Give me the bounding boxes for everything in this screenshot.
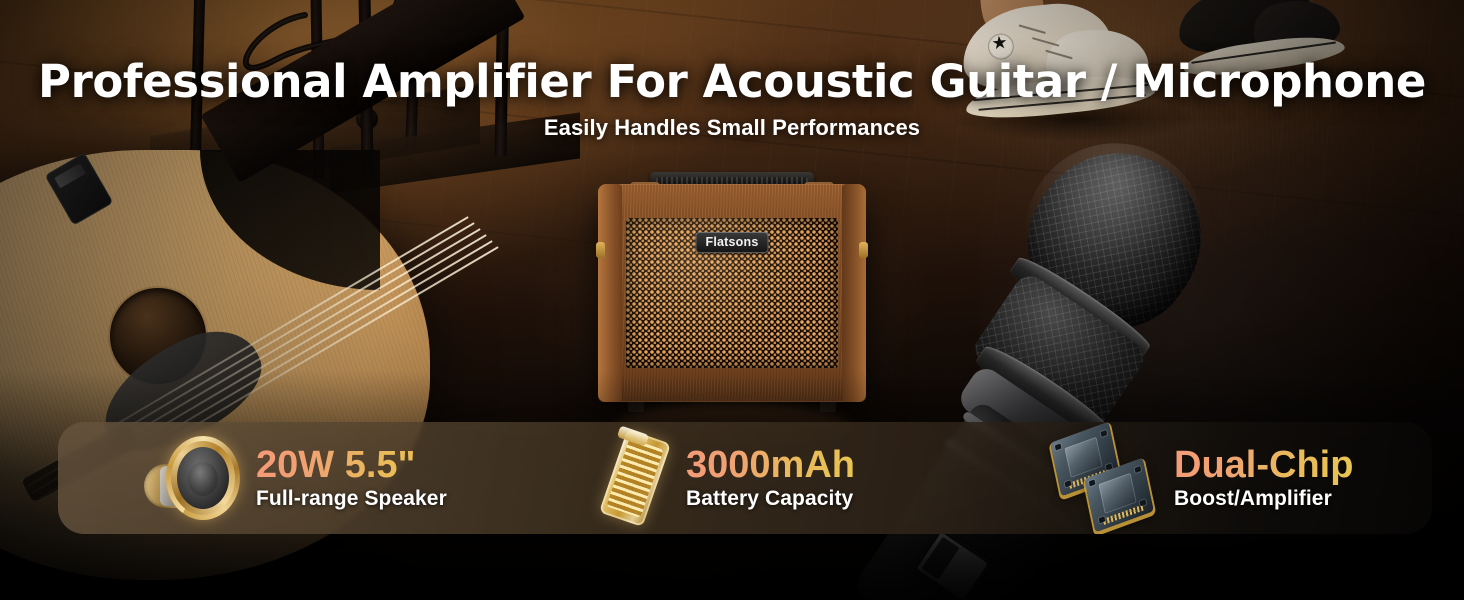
product-banner: Flatsons Professional Amplifier For Acou… xyxy=(0,0,1464,600)
cabinet-corner-hardware xyxy=(859,242,868,258)
amplifier-foot xyxy=(820,402,836,412)
chip-smd-component xyxy=(1140,499,1147,506)
cabinet-edge-left xyxy=(598,184,622,402)
feature-value: 20W 5.5" xyxy=(256,445,447,485)
feature-item-speaker: 20W 5.5" Full-range Speaker xyxy=(144,422,544,534)
amplifier-product: Flatsons xyxy=(598,172,866,408)
speaker-dust-cap xyxy=(188,462,218,496)
speaker-driver-icon xyxy=(144,432,240,524)
feature-bar: 20W 5.5" Full-range Speaker 3000mAh Batt… xyxy=(58,422,1432,534)
battery-coil xyxy=(606,438,663,518)
page-title: Professional Amplifier For Acoustic Guit… xyxy=(0,58,1464,105)
battery-cell-icon xyxy=(600,430,670,526)
chip-smd-component xyxy=(1055,443,1062,450)
brand-badge: Flatsons xyxy=(696,232,769,253)
amplifier-speaker-grille: Flatsons xyxy=(626,218,838,368)
headline-block: Professional Amplifier For Acoustic Guit… xyxy=(0,58,1464,141)
amplifier-foot xyxy=(628,402,644,412)
feature-text-block: Dual-Chip Boost/Amplifier xyxy=(1174,445,1353,510)
feature-label: Battery Capacity xyxy=(686,487,855,511)
chip-smd-component xyxy=(1089,479,1096,486)
feature-item-battery: 3000mAh Battery Capacity xyxy=(600,422,1000,534)
battery-cell-body xyxy=(599,429,671,527)
cabinet-edge-right xyxy=(842,184,866,402)
chip-smd-component xyxy=(1135,466,1142,473)
feature-text-block: 3000mAh Battery Capacity xyxy=(686,445,855,510)
cabinet-corner-hardware xyxy=(596,242,605,258)
feature-value: Dual-Chip xyxy=(1174,445,1353,485)
feature-label: Boost/Amplifier xyxy=(1174,487,1353,511)
dual-chip-icon xyxy=(1054,430,1158,526)
feature-value: 3000mAh xyxy=(686,445,855,485)
feature-item-chip: Dual-Chip Boost/Amplifier xyxy=(1054,422,1414,534)
feature-text-block: 20W 5.5" Full-range Speaker xyxy=(256,445,447,510)
page-subtitle: Easily Handles Small Performances xyxy=(0,115,1464,141)
chip-smd-component xyxy=(1101,430,1108,437)
feature-label: Full-range Speaker xyxy=(256,487,447,511)
